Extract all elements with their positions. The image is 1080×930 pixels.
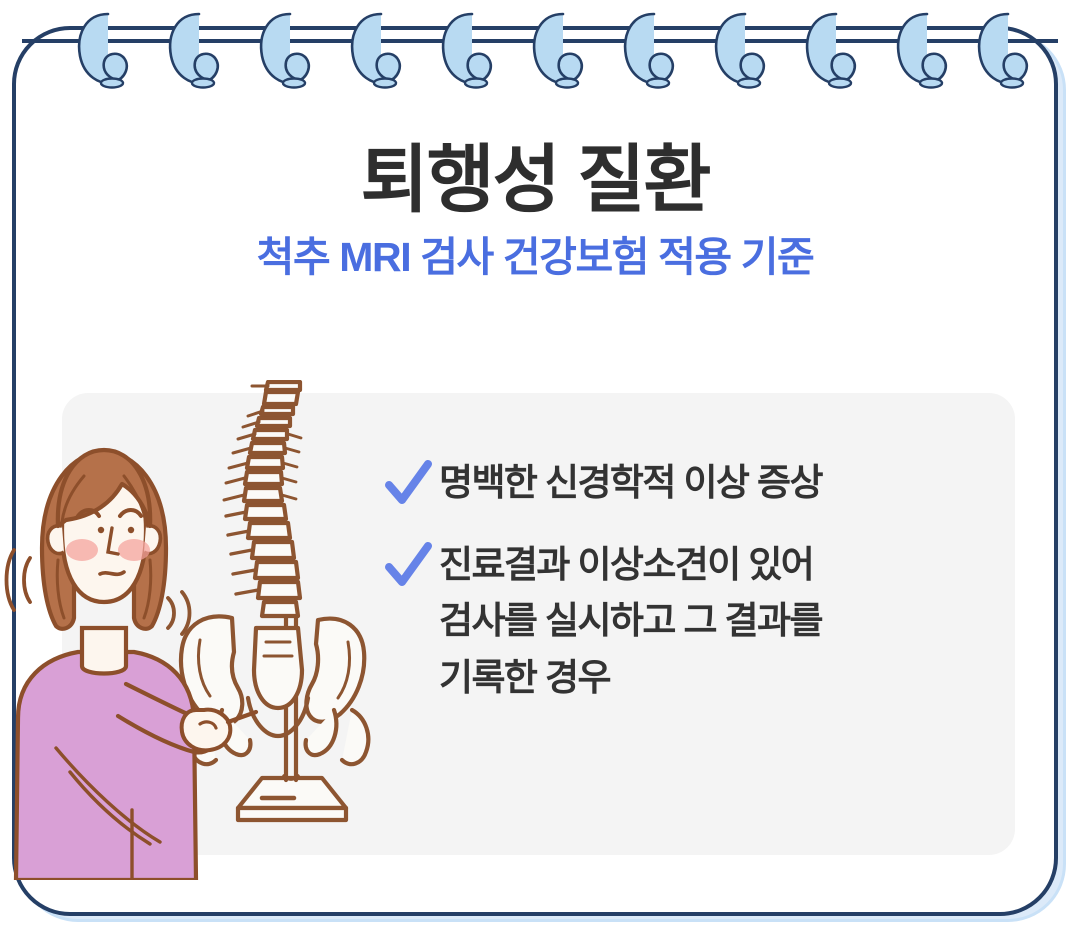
page-subtitle: 척추 MRI 검사 건강보험 적용 기준 xyxy=(12,234,1058,281)
criteria-checklist: 명백한 신경학적 이상 증상 진료결과 이상소견이 있어 검사를 실시하고 그 … xyxy=(383,455,1003,732)
list-item: 명백한 신경학적 이상 증상 xyxy=(383,455,1003,511)
list-item: 진료결과 이상소견이 있어 검사를 실시하고 그 결과를 기록한 경우 xyxy=(383,537,1003,706)
check-icon xyxy=(383,537,439,591)
page-title: 퇴행성 질환 xyxy=(12,140,1058,220)
heading-block: 퇴행성 질환 척추 MRI 검사 건강보험 적용 기준 xyxy=(12,140,1058,281)
criteria-text-2: 진료결과 이상소견이 있어 검사를 실시하고 그 결과를 기록한 경우 xyxy=(439,537,822,706)
criteria-text-1: 명백한 신경학적 이상 증상 xyxy=(439,455,822,511)
check-icon xyxy=(383,455,439,509)
infographic-canvas: 퇴행성 질환 척추 MRI 검사 건강보험 적용 기준 xyxy=(0,0,1080,930)
